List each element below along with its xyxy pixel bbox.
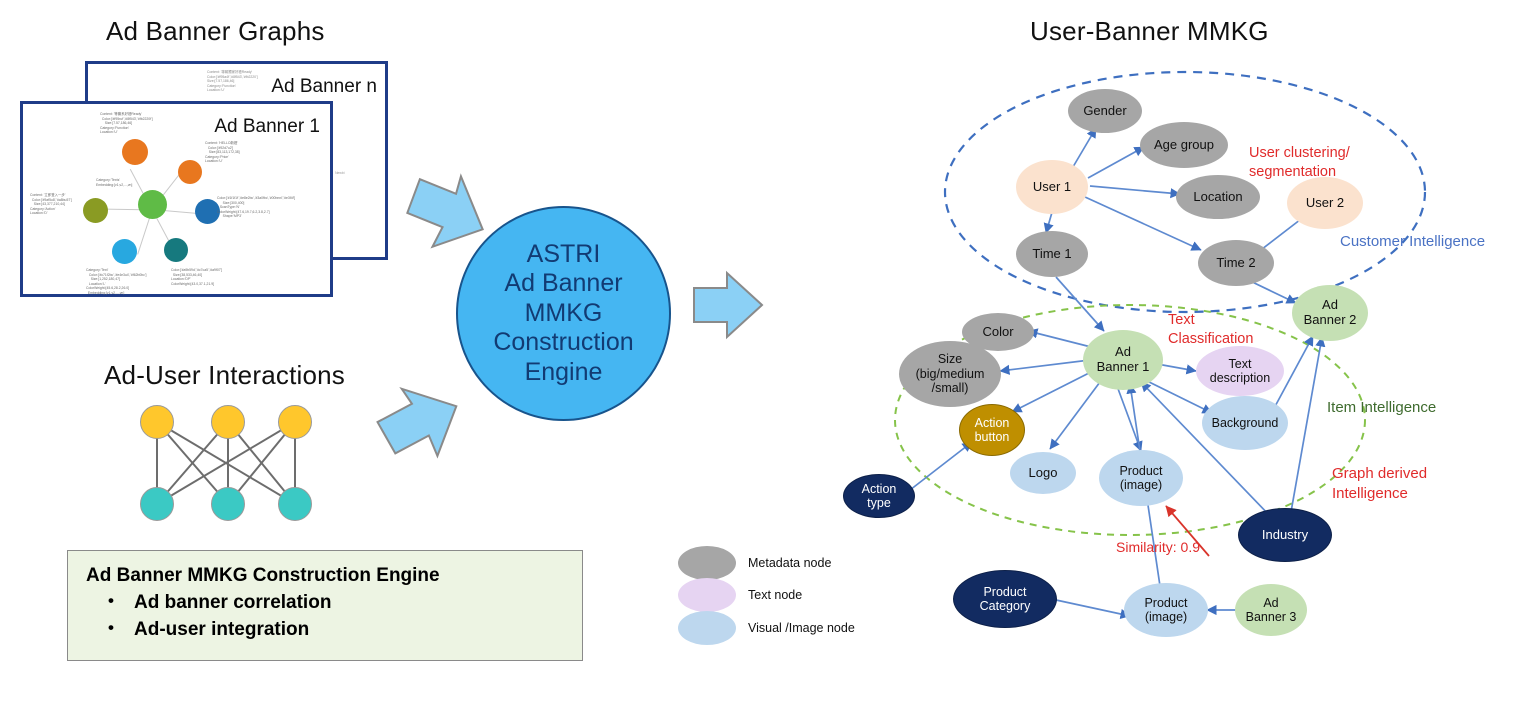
mini-node-image-logo — [164, 238, 188, 262]
bipartite-top-node-1 — [140, 405, 174, 439]
mini-node-text-description — [178, 160, 202, 184]
edge-adbanner1-productimage — [1117, 386, 1141, 451]
ad-banner-card-n-label: Ad Banner n — [237, 76, 377, 98]
annotation-similarity: Similarity: 0.9 — [1116, 538, 1200, 556]
edge-adbanner1-size — [1000, 360, 1090, 371]
mini-card-annotation: Content: 'HELLO新禮' Color:['#92d7u2'] Siz… — [205, 141, 240, 164]
node-ad-banner-1[interactable]: Ad Banner 1 — [1083, 330, 1163, 390]
ad-banner-card-1-label: Ad Banner 1 — [170, 116, 320, 138]
astri-engine-circle[interactable]: ASTRI Ad Banner MMKG Construction Engine — [456, 206, 671, 421]
mini-card-annotation: Content: '立即登入一步' Color:['#9af5u8','#a8b… — [30, 193, 72, 216]
annotation-user-clustering: User clustering/ segmentation — [1249, 144, 1350, 182]
annotation-customer-intelligence: Customer Intelligence — [1340, 232, 1485, 252]
node-product-image-2[interactable]: Product (image) — [1124, 583, 1208, 637]
node-user-2[interactable]: User 2 — [1287, 177, 1363, 229]
legend-swatch-metadata-icon — [678, 546, 736, 580]
edge-adbanner1-logo — [1050, 382, 1100, 449]
engine-summary-bullet-1: Ad banner correlation — [108, 592, 564, 614]
node-action-button[interactable]: Action button — [959, 404, 1025, 456]
astri-engine-label: ASTRI Ad Banner MMKG Construction Engine — [493, 240, 633, 388]
mini-card-annotation: Color:['#1f1f1f','#e8e2bc','#3a0fbc','#0… — [217, 196, 295, 219]
node-time-1[interactable]: Time 1 — [1016, 231, 1088, 277]
mini-card-annotation: Content: '等贏系好禮Ready' Color:['#f95ruf','… — [100, 112, 153, 135]
legend-label-text: Text node — [748, 588, 802, 602]
edge-user1-agegroup — [1088, 147, 1144, 178]
node-industry[interactable]: Industry — [1238, 508, 1332, 562]
node-age-group[interactable]: Age group — [1140, 122, 1228, 168]
engine-summary-list: Ad banner correlation Ad-user integratio… — [86, 592, 564, 641]
engine-summary-title: Ad Banner MMKG Construction Engine — [86, 565, 564, 587]
annotation-graph-derived-intelligence: Graph derived Intelligence — [1332, 464, 1427, 503]
edge-time1-adbanner1 — [1056, 277, 1104, 331]
ad-banner-graphs-title: Ad Banner Graphs — [106, 16, 325, 47]
node-ad-banner-2[interactable]: Ad Banner 2 — [1292, 285, 1368, 341]
node-product-category[interactable]: Product Category — [953, 570, 1057, 628]
edge-productcategory-productimage2 — [1056, 600, 1130, 616]
arrow-engine-to-mmkg — [694, 273, 762, 337]
engine-summary-box: Ad Banner MMKG Construction Engine Ad ba… — [67, 550, 583, 661]
annotation-item-intelligence: Item Intelligence — [1327, 398, 1436, 418]
bipartite-top-node-3 — [278, 405, 312, 439]
edge-actiontype-actionbutton — [910, 442, 972, 490]
node-user-1[interactable]: User 1 — [1016, 160, 1088, 214]
mini-card-annotation: Color:['#a9b59d','#c7ca5','#a9f07'] Size… — [171, 268, 222, 286]
legend-swatch-visual-icon — [678, 611, 736, 645]
node-product-image-1[interactable]: Product (image) — [1099, 450, 1183, 506]
legend-label-visual: Visual /Image node — [748, 621, 855, 635]
node-location[interactable]: Location — [1176, 175, 1260, 219]
bipartite-bottom-node-1 — [140, 487, 174, 521]
node-background[interactable]: Background — [1202, 396, 1288, 450]
edge-industry-adbanner2 — [1291, 337, 1322, 512]
legend-item-metadata: Metadata node — [678, 546, 831, 580]
ad-user-interactions-title: Ad-User Interactions — [104, 360, 345, 391]
mini-node-image-product — [112, 239, 137, 264]
mini-node-banner-center — [138, 190, 167, 219]
edge-adbanner1-actionbutton — [1012, 372, 1091, 412]
legend-item-visual: Visual /Image node — [678, 611, 855, 645]
bipartite-bottom-node-3 — [278, 487, 312, 521]
user-banner-mmkg-title: User-Banner MMKG — [1030, 16, 1269, 47]
node-action-type[interactable]: Action type — [843, 474, 915, 518]
mini-node-text-description — [122, 139, 148, 165]
legend-item-text: Text node — [678, 578, 802, 612]
bipartite-top-node-2 — [211, 405, 245, 439]
node-logo[interactable]: Logo — [1010, 452, 1076, 494]
node-gender[interactable]: Gender — [1068, 89, 1142, 133]
bipartite-bottom-node-2 — [211, 487, 245, 521]
mini-card-annotation: Category:'Text' Color:['#c71f2bc','#e4e3… — [86, 268, 146, 296]
mini-card-annotation: Category:'Texts' Embedding:[v1,v2,...,vn… — [96, 178, 132, 187]
node-time-2[interactable]: Time 2 — [1198, 240, 1274, 286]
arrow-interactions-to-engine — [369, 370, 473, 473]
node-size[interactable]: Size (big/medium /small) — [899, 341, 1001, 407]
engine-summary-bullet-2: Ad-user integration — [108, 619, 564, 641]
node-text-description[interactable]: Text description — [1196, 346, 1284, 396]
legend-swatch-text-icon — [678, 578, 736, 612]
annotation-text-classification: Text Classification — [1168, 311, 1253, 349]
ad-banner-card-1[interactable]: Content: '等贏系好禮Ready' Color:['#f95ruf','… — [20, 101, 333, 297]
mini-node-button-action — [83, 198, 108, 223]
node-ad-banner-3[interactable]: Ad Banner 3 — [1235, 584, 1307, 636]
edge-user1-location — [1090, 186, 1180, 194]
edge-adbanner1-color — [1028, 331, 1095, 348]
legend-label-metadata: Metadata node — [748, 556, 831, 570]
